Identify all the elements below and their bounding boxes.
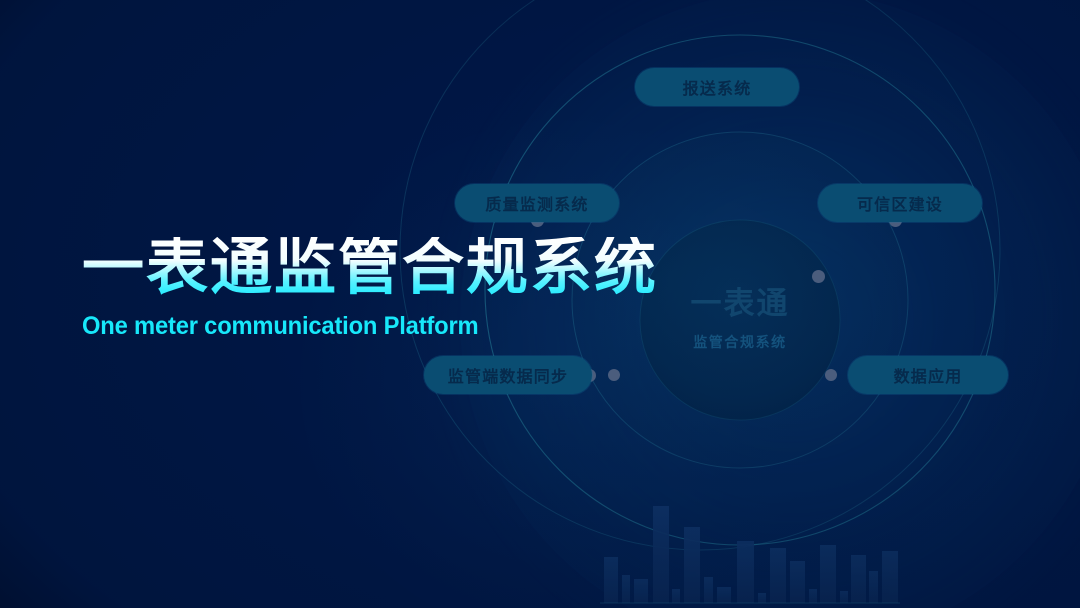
connector-dot-lower-left-inner: [608, 369, 620, 381]
connector-dot-right-mid: [812, 270, 825, 283]
page-title: 一表通监管合规系统: [82, 237, 702, 299]
node-label: 质量监测系统: [485, 191, 588, 215]
node-label: 监管端数据同步: [448, 363, 568, 387]
node-label: 数据应用: [894, 363, 963, 387]
slide-canvas: 一表通 监管合规系统 一表通监管合规系统 One meter communica…: [0, 0, 1080, 608]
node-pill-trusted-zone[interactable]: 可信区建设: [818, 184, 982, 222]
node-pill-regulator-sync[interactable]: 监管端数据同步: [424, 356, 592, 394]
headline-block: 一表通监管合规系统 One meter communication Platfo…: [82, 237, 702, 341]
node-pill-report-system[interactable]: 报送系统: [635, 68, 799, 106]
node-label: 报送系统: [683, 75, 752, 99]
node-pill-quality-monitoring[interactable]: 质量监测系统: [455, 184, 619, 222]
connector-dot-lower-right-inner: [825, 369, 837, 381]
node-pill-data-application[interactable]: 数据应用: [848, 356, 1008, 394]
node-label: 可信区建设: [857, 191, 943, 215]
page-subtitle: One meter communication Platform: [82, 312, 671, 341]
